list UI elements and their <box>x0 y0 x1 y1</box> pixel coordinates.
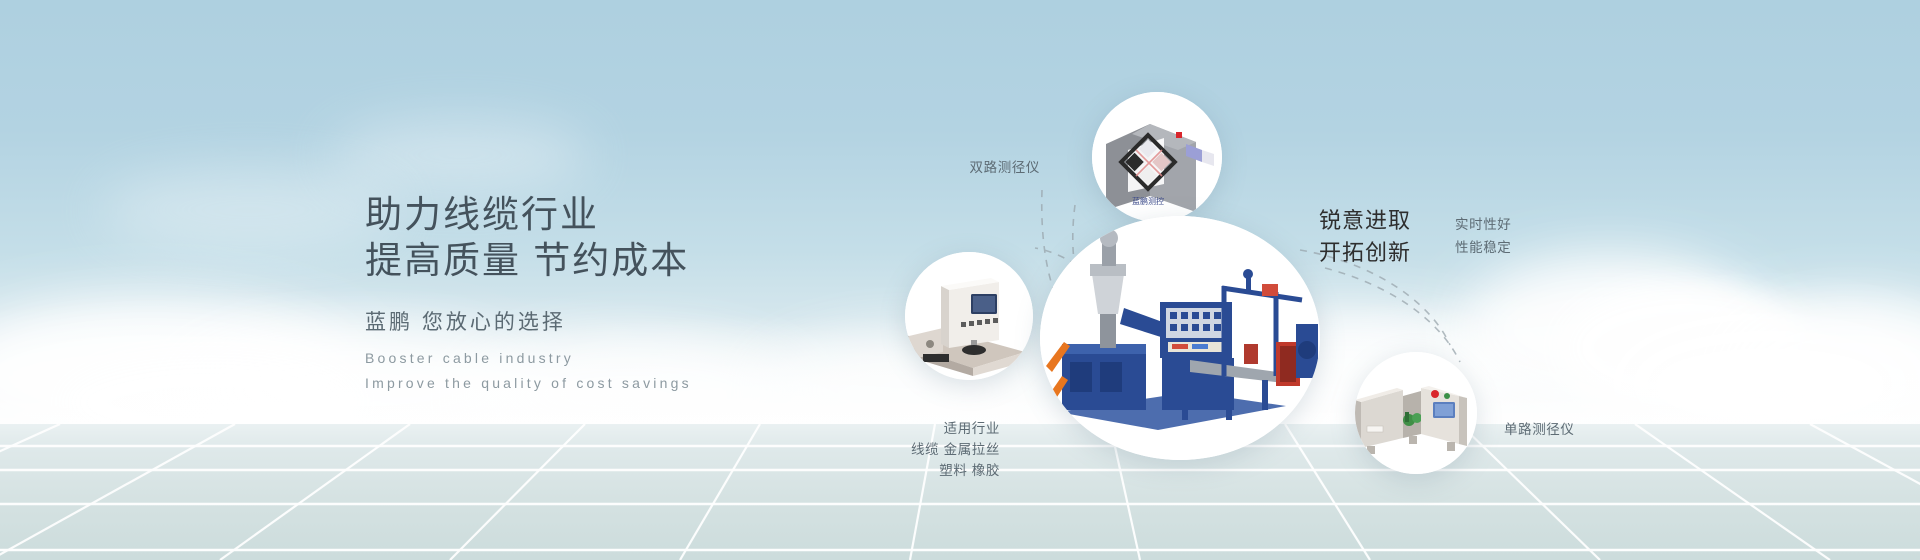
single-axis-gauge-illustration <box>1355 352 1477 474</box>
feature-line-1: 实时性好 <box>1455 213 1565 236</box>
label-dual-gauge-text: 双路测径仪 <box>970 160 1041 175</box>
english-tagline-1: Booster cable industry <box>365 350 925 366</box>
device-brand-text: 蓝鹏测控 <box>1132 196 1164 206</box>
center-slogan-line-1: 锐意进取 <box>1300 205 1430 237</box>
subheadline: 蓝鹏 您放心的选择 <box>365 306 925 336</box>
feature-list: 实时性好 性能稳定 <box>1455 213 1565 259</box>
center-slogan: 锐意进取 开拓创新 <box>1300 205 1430 269</box>
english-tagline-2: Improve the quality of cost savings <box>365 375 925 391</box>
industry-block: 适用行业 线缆 金属拉丝 塑料 橡胶 <box>860 418 1000 481</box>
bubble-extrusion-line <box>1040 216 1320 460</box>
feature-line-2: 性能稳定 <box>1455 236 1565 259</box>
hero-copy: 助力线缆行业 提高质量 节约成本 蓝鹏 您放心的选择 Booster cable… <box>365 192 925 391</box>
label-single-gauge: 单路测径仪 <box>1504 419 1664 440</box>
bubble-dual-gauge: 蓝鹏测控 <box>1092 92 1222 222</box>
industry-line-2: 塑料 橡胶 <box>860 460 1000 481</box>
center-slogan-line-2: 开拓创新 <box>1300 237 1430 269</box>
label-single-gauge-text: 单路测径仪 <box>1504 422 1575 437</box>
hero-banner: 助力线缆行业 提高质量 节约成本 蓝鹏 您放心的选择 Booster cable… <box>0 0 1920 560</box>
industry-title: 适用行业 <box>860 418 1000 439</box>
bubble-measuring-console <box>905 252 1033 380</box>
industry-line-1: 线缆 金属拉丝 <box>860 439 1000 460</box>
headline-line-1: 助力线缆行业 <box>365 192 925 238</box>
measuring-console-illustration <box>905 252 1033 380</box>
label-dual-gauge: 双路测径仪 <box>880 157 1040 178</box>
dual-axis-gauge-illustration: 蓝鹏测控 <box>1092 92 1222 222</box>
headline-line-2: 提高质量 节约成本 <box>365 238 925 284</box>
extrusion-production-line-illustration <box>1040 216 1320 460</box>
bubble-single-gauge <box>1355 352 1477 474</box>
